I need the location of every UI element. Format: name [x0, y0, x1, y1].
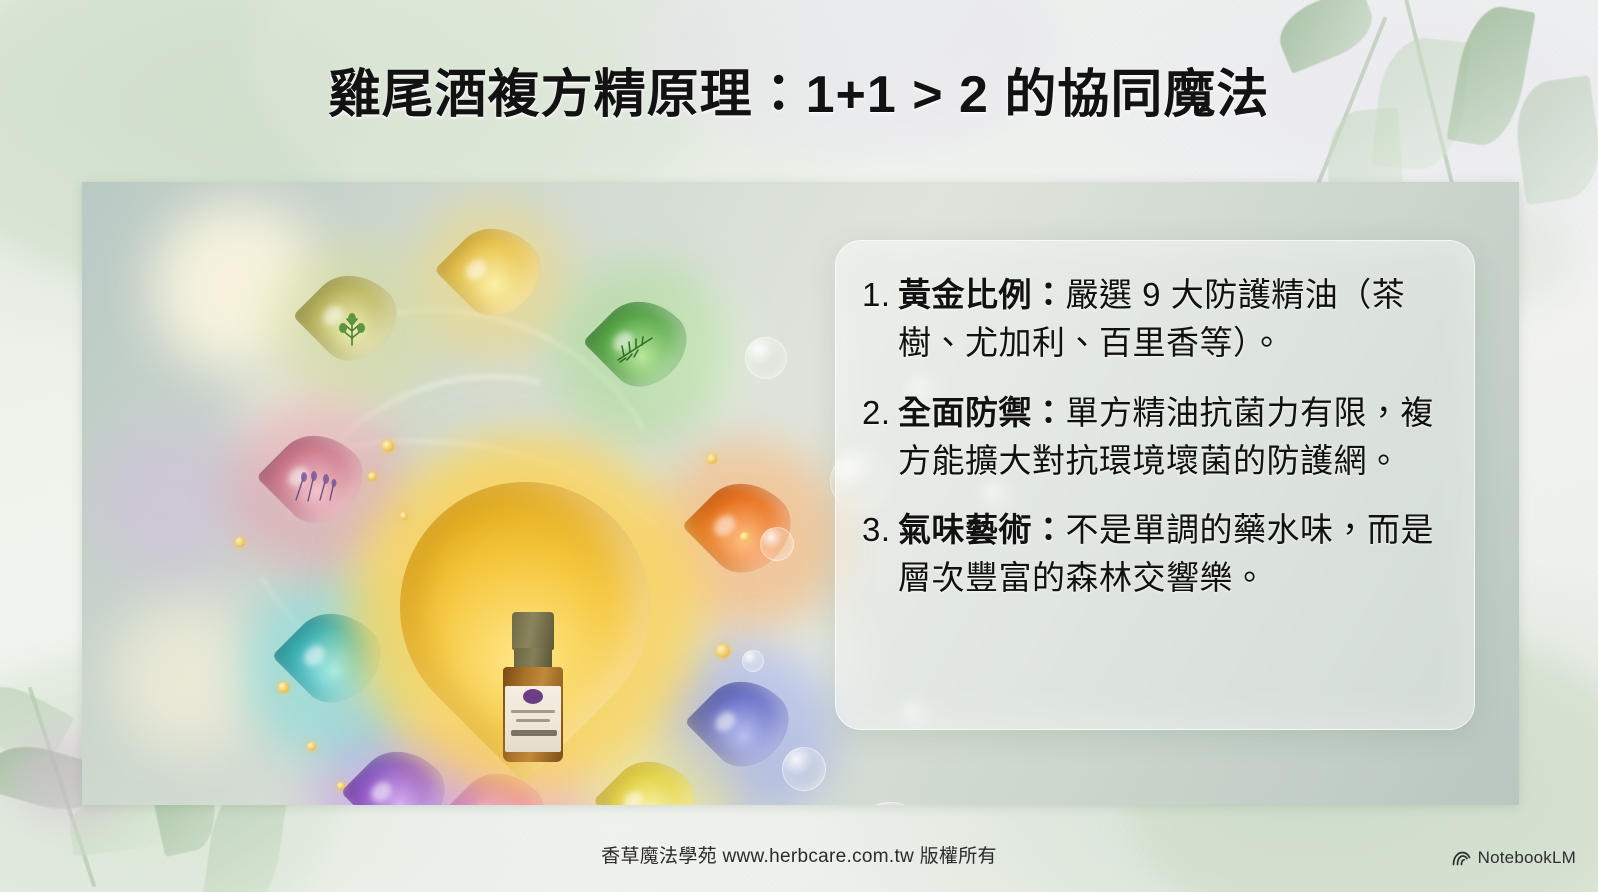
water-bubble — [852, 802, 928, 805]
water-bubble — [782, 747, 826, 791]
footer-copyright: 香草魔法學苑 www.herbcare.com.tw 版權所有 — [0, 841, 1598, 868]
gold-sparkle — [337, 782, 345, 790]
point-heading: 全面防禦： — [898, 394, 1066, 431]
gold-sparkle — [400, 512, 408, 520]
notebooklm-brand: NotebookLM — [1452, 848, 1576, 868]
point-heading: 黃金比例： — [898, 276, 1066, 313]
brand-crest-icon — [523, 689, 543, 704]
lavender-sprig-icon — [290, 470, 338, 504]
gold-sparkle — [740, 532, 750, 542]
gold-sparkle — [382, 440, 394, 452]
label-text-line — [516, 719, 550, 722]
gold-sparkle — [368, 472, 377, 481]
bottle-label — [505, 686, 561, 752]
notebooklm-icon — [1452, 851, 1471, 866]
list-item: 黃金比例：嚴選 9 大防護精油（茶樹、尤加利、百里香等）。 — [854, 271, 1448, 367]
water-bubble — [742, 650, 764, 672]
gold-sparkle — [235, 537, 245, 547]
water-bubble — [760, 527, 794, 561]
key-points-card: 黃金比例：嚴選 9 大防護精油（茶樹、尤加利、百里香等）。 全面防禦：單方精油抗… — [835, 240, 1475, 730]
water-bubble — [745, 337, 787, 379]
notebooklm-label: NotebookLM — [1478, 848, 1576, 868]
label-text-line — [511, 730, 557, 736]
list-item: 全面防禦：單方精油抗菌力有限，複方能擴大對抗環境壞菌的防護網。 — [854, 389, 1448, 485]
illustration-panel: 黃金比例：嚴選 9 大防護精油（茶樹、尤加利、百里香等）。 全面防禦：單方精油抗… — [82, 182, 1519, 805]
key-points-list: 黃金比例：嚴選 9 大防護精油（茶樹、尤加利、百里香等）。 全面防禦：單方精油抗… — [854, 271, 1448, 602]
gold-sparkle — [707, 454, 717, 464]
slide-root: 雞尾酒複方精原理：1+1 > 2 的協同魔法 — [0, 0, 1598, 892]
pine-sprig-icon — [614, 334, 656, 364]
essential-oil-bottle — [500, 612, 566, 762]
point-heading: 氣味藝術： — [898, 511, 1066, 548]
bottle-cap — [512, 612, 554, 650]
gold-sparkle — [278, 682, 289, 693]
gold-sparkle — [307, 742, 316, 751]
gold-sparkle — [716, 644, 730, 658]
page-title: 雞尾酒複方精原理：1+1 > 2 的協同魔法 — [0, 52, 1598, 127]
label-text-line — [511, 710, 555, 713]
list-item: 氣味藝術：不是單調的藥水味，而是層次豐富的森林交響樂。 — [854, 506, 1448, 602]
